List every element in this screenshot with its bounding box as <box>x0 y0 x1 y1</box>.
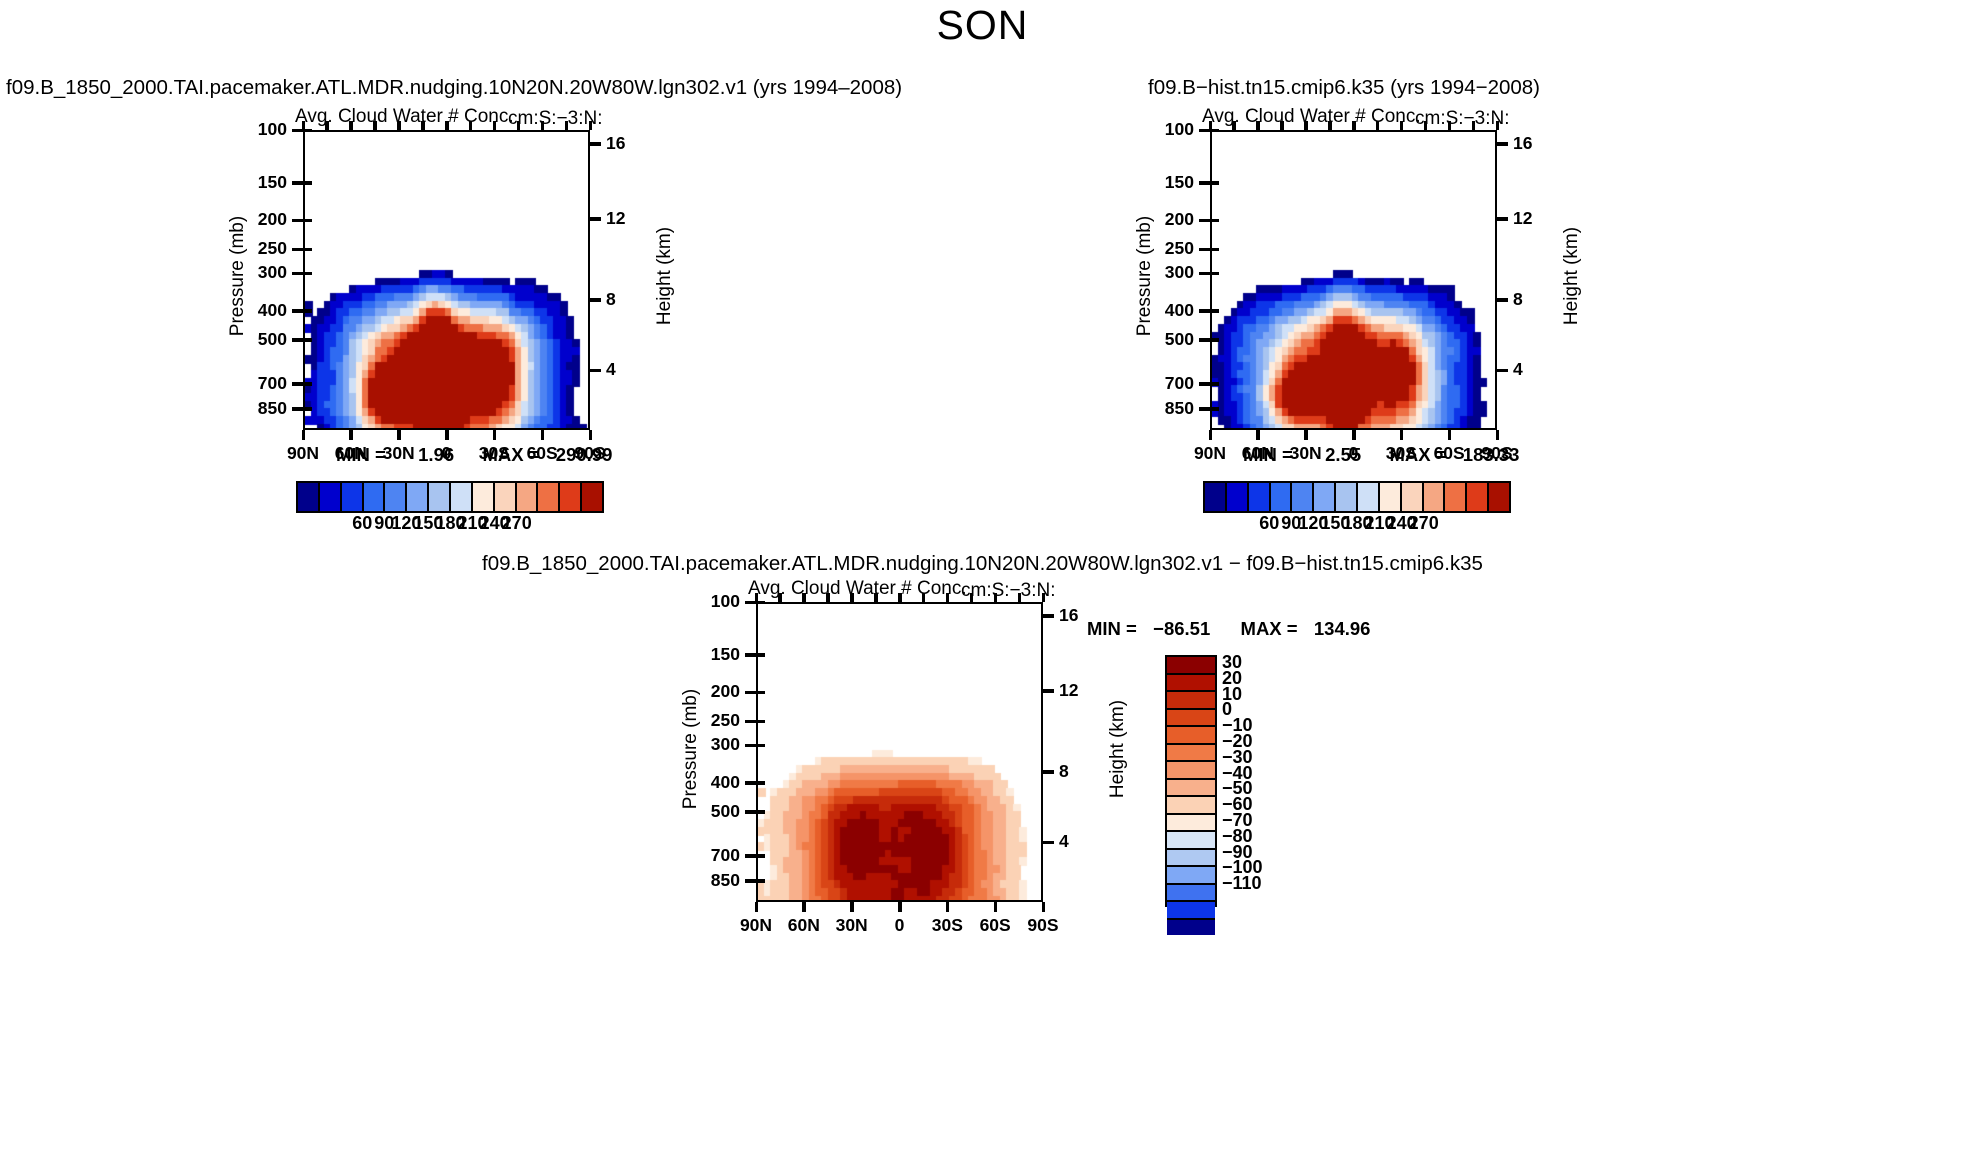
left-pressure-tick <box>292 407 303 411</box>
diff-plot-canvas <box>758 604 1043 902</box>
left-height-tick <box>590 298 601 302</box>
left-lat-tick <box>541 430 545 440</box>
colorbar-swatch <box>1445 483 1467 511</box>
left-pressure-ticklabel: 100 <box>225 119 287 140</box>
right-pressure-ticklabel: 100 <box>1132 119 1194 140</box>
left-top-tick <box>421 121 425 130</box>
colorbar-swatch <box>1467 483 1489 511</box>
left-height-ticklabel: 16 <box>606 133 646 154</box>
colorbar-swatch <box>517 483 539 511</box>
colorbar-swatch <box>1167 885 1215 903</box>
diff-height-tick <box>1043 689 1054 693</box>
left-top-tick <box>445 121 449 130</box>
diff-pressure-ticklabel: 400 <box>678 772 740 793</box>
diff-lat-tick <box>946 902 950 912</box>
diff-pressure-tick-inner <box>757 854 765 858</box>
left-top-tick <box>565 121 569 130</box>
right-pressure-tick-inner <box>1211 248 1219 252</box>
diff-height-tick <box>1043 841 1054 845</box>
colorbar-swatch <box>1292 483 1314 511</box>
colorbar-ticklabel: 270 <box>487 513 547 534</box>
right-pressure-tick <box>1199 219 1210 223</box>
left-pressure-tick <box>292 219 303 223</box>
colorbar-swatch <box>298 483 320 511</box>
diff-pressure-tick-inner <box>757 653 765 657</box>
colorbar-swatch <box>1402 483 1424 511</box>
diff-pressure-tick <box>745 781 756 785</box>
diff-height-tick <box>1043 770 1054 774</box>
left-colorbar <box>296 481 604 513</box>
colorbar-swatch <box>1424 483 1446 511</box>
right-pressure-tick <box>1199 338 1210 342</box>
diff-pressure-tick <box>745 720 756 724</box>
left-pressure-tick-inner <box>304 309 312 313</box>
right-height-tick <box>1497 217 1508 221</box>
colorbar-swatch <box>1167 710 1215 728</box>
right-top-tick <box>1328 121 1332 130</box>
diff-height-ticklabel: 12 <box>1059 680 1099 701</box>
colorbar-swatch <box>1336 483 1358 511</box>
diff-top-tick <box>970 593 974 602</box>
left-lat-tick <box>302 430 306 440</box>
left-height-tick <box>590 142 601 146</box>
colorbar-swatch <box>1380 483 1402 511</box>
colorbar-swatch <box>582 483 602 511</box>
colorbar-swatch <box>1167 762 1215 780</box>
colorbar-swatch <box>1167 920 1215 936</box>
left-lat-tick <box>493 430 497 440</box>
left-plot-canvas <box>305 132 590 430</box>
left-pressure-tick <box>292 181 303 185</box>
right-top-tick <box>1400 121 1404 130</box>
colorbar-swatch <box>1167 902 1215 920</box>
colorbar-swatch <box>1167 867 1215 885</box>
right-pressure-ticklabel: 200 <box>1132 209 1194 230</box>
diff-pressure-tick <box>745 810 756 814</box>
left-height-ticklabel: 4 <box>606 359 646 380</box>
colorbar-swatch <box>385 483 407 511</box>
diff-lat-tick <box>994 902 998 912</box>
diff-top-tick <box>778 593 782 602</box>
diff-pressure-ticklabel: 100 <box>678 591 740 612</box>
diff-pressure-tick <box>745 653 756 657</box>
right-pressure-tick <box>1199 181 1210 185</box>
diff-pressure-tick <box>745 691 756 695</box>
diff-height-ticklabel: 16 <box>1059 605 1099 626</box>
left-pressure-tick-inner <box>304 407 312 411</box>
diff-pressure-ticklabel: 850 <box>678 870 740 891</box>
diff-lat-tick <box>850 902 854 912</box>
right-top-tick <box>1496 121 1500 130</box>
right-lat-tick <box>1400 430 1404 440</box>
colorbar-swatch <box>1167 780 1215 798</box>
colorbar-swatch <box>1314 483 1336 511</box>
colorbar-ticklabel: −110 <box>1222 873 1308 894</box>
diff-pressure-tick <box>745 744 756 748</box>
diff-pressure-tick-inner <box>757 601 765 605</box>
diff-lat-tick <box>755 902 759 912</box>
right-pressure-ticklabel: 400 <box>1132 300 1194 321</box>
left-top-tick <box>493 121 497 130</box>
right-pressure-tick <box>1199 272 1210 276</box>
right-top-tick <box>1352 121 1356 130</box>
diff-ylabel-height: Height (km) <box>1107 669 1129 829</box>
right-lat-ticklabel: 90S <box>1463 443 1531 464</box>
diff-lat-ticklabel: 90S <box>1009 915 1077 936</box>
colorbar-swatch <box>1167 657 1215 675</box>
diff-colorbar <box>1165 655 1217 907</box>
diff-pressure-ticklabel: 200 <box>678 681 740 702</box>
diff-top-tick <box>946 593 950 602</box>
right-pressure-ticklabel: 250 <box>1132 238 1194 259</box>
diff-pressure-ticklabel: 700 <box>678 845 740 866</box>
right-panel-title: f09.B−hist.tn15.cmip6.k35 (yrs 1994−2008… <box>1148 76 1540 100</box>
diff-pressure-tick-inner <box>757 720 765 724</box>
left-lat-ticklabel: 90S <box>556 443 624 464</box>
colorbar-swatch <box>538 483 560 511</box>
diff-top-tick <box>826 593 830 602</box>
left-top-tick <box>541 121 545 130</box>
right-pressure-tick <box>1199 382 1210 386</box>
right-lat-tick <box>1496 430 1500 440</box>
diff-panel-title: f09.B_1850_2000.TAI.pacemaker.ATL.MDR.nu… <box>0 552 1965 576</box>
left-pressure-tick-inner <box>304 181 312 185</box>
diff-top-tick <box>994 593 998 602</box>
right-top-tick <box>1424 121 1428 130</box>
right-height-ticklabel: 16 <box>1513 133 1553 154</box>
left-top-tick <box>325 121 329 130</box>
colorbar-swatch <box>451 483 473 511</box>
left-top-tick <box>349 121 353 130</box>
diff-top-tick <box>874 593 878 602</box>
left-pressure-ticklabel: 250 <box>225 238 287 259</box>
right-height-tick <box>1497 369 1508 373</box>
left-ylabel-height: Height (km) <box>654 196 676 356</box>
diff-pressure-tick-inner <box>757 879 765 883</box>
right-top-tick <box>1304 121 1308 130</box>
diff-top-tick <box>850 593 854 602</box>
right-pressure-tick-inner <box>1211 338 1219 342</box>
right-pressure-ticklabel: 500 <box>1132 329 1194 350</box>
left-height-ticklabel: 12 <box>606 208 646 229</box>
left-lat-tick <box>589 430 593 440</box>
diff-pressure-ticklabel: 250 <box>678 710 740 731</box>
right-top-tick <box>1256 121 1260 130</box>
right-top-tick <box>1472 121 1476 130</box>
right-pressure-tick <box>1199 248 1210 252</box>
diff-top-tick <box>1042 593 1046 602</box>
right-ylabel-height: Height (km) <box>1561 196 1583 356</box>
diff-pressure-tick <box>745 854 756 858</box>
right-lat-tick <box>1448 430 1452 440</box>
right-pressure-ticklabel: 150 <box>1132 172 1194 193</box>
right-pressure-tick <box>1199 407 1210 411</box>
colorbar-swatch <box>1358 483 1380 511</box>
right-lat-tick <box>1256 430 1260 440</box>
right-pressure-ticklabel: 300 <box>1132 262 1194 283</box>
right-colorbar-labels: 6090120150180210240270 <box>1203 513 1512 537</box>
diff-height-ticklabel: 4 <box>1059 831 1099 852</box>
left-lat-tick <box>349 430 353 440</box>
colorbar-swatch <box>364 483 386 511</box>
figure-suptitle: SON <box>0 2 1965 49</box>
left-pressure-tick-inner <box>304 129 312 133</box>
left-height-tick <box>590 217 601 221</box>
colorbar-swatch <box>1167 745 1215 763</box>
diff-lat-tick <box>1042 902 1046 912</box>
colorbar-swatch <box>1227 483 1249 511</box>
diff-pressure-tick-inner <box>757 691 765 695</box>
diff-pressure-tick-inner <box>757 744 765 748</box>
right-lat-tick <box>1209 430 1213 440</box>
diff-height-ticklabel: 8 <box>1059 761 1099 782</box>
left-pressure-tick-inner <box>304 248 312 252</box>
left-pressure-tick <box>292 248 303 252</box>
left-height-ticklabel: 8 <box>606 289 646 310</box>
right-height-ticklabel: 12 <box>1513 208 1553 229</box>
left-pressure-tick <box>292 272 303 276</box>
left-pressure-ticklabel: 300 <box>225 262 287 283</box>
colorbar-swatch <box>1271 483 1293 511</box>
diff-top-tick <box>802 593 806 602</box>
diff-top-tick <box>1018 593 1022 602</box>
colorbar-swatch <box>1205 483 1227 511</box>
left-height-tick <box>590 369 601 373</box>
right-pressure-tick-inner <box>1211 129 1219 133</box>
left-top-tick <box>469 121 473 130</box>
left-pressure-ticklabel: 850 <box>225 398 287 419</box>
diff-plot-frame <box>756 602 1043 902</box>
colorbar-swatch <box>1167 797 1215 815</box>
right-pressure-ticklabel: 850 <box>1132 398 1194 419</box>
right-top-tick <box>1280 121 1284 130</box>
right-pressure-tick-inner <box>1211 272 1219 276</box>
colorbar-swatch <box>1167 675 1215 693</box>
colorbar-swatch <box>1167 692 1215 710</box>
diff-lat-tick <box>898 902 902 912</box>
left-pressure-tick <box>292 382 303 386</box>
left-pressure-tick <box>292 309 303 313</box>
left-pressure-tick <box>292 338 303 342</box>
left-top-tick <box>589 121 593 130</box>
diff-pressure-tick-inner <box>757 781 765 785</box>
left-top-tick <box>373 121 377 130</box>
right-top-tick <box>1232 121 1236 130</box>
left-pressure-tick-inner <box>304 338 312 342</box>
colorbar-swatch <box>560 483 582 511</box>
right-height-ticklabel: 4 <box>1513 359 1553 380</box>
right-plot-canvas <box>1212 132 1497 430</box>
left-pressure-tick-inner <box>304 382 312 386</box>
right-plot-frame <box>1210 130 1497 430</box>
diff-pressure-ticklabel: 300 <box>678 734 740 755</box>
right-top-tick <box>1376 121 1380 130</box>
left-lat-tick <box>397 430 401 440</box>
diff-height-tick <box>1043 614 1054 618</box>
right-pressure-tick <box>1199 309 1210 313</box>
colorbar-swatch <box>429 483 451 511</box>
colorbar-swatch <box>407 483 429 511</box>
diff-pressure-tick-inner <box>757 810 765 814</box>
left-pressure-ticklabel: 700 <box>225 373 287 394</box>
right-lat-tick <box>1352 430 1356 440</box>
colorbar-swatch <box>1167 815 1215 833</box>
left-pressure-ticklabel: 200 <box>225 209 287 230</box>
left-pressure-tick-inner <box>304 272 312 276</box>
right-pressure-tick-inner <box>1211 309 1219 313</box>
left-pressure-ticklabel: 400 <box>225 300 287 321</box>
left-top-tick <box>397 121 401 130</box>
colorbar-swatch <box>495 483 517 511</box>
right-lat-tick <box>1304 430 1308 440</box>
colorbar-swatch <box>1249 483 1271 511</box>
left-pressure-ticklabel: 150 <box>225 172 287 193</box>
diff-pressure-ticklabel: 500 <box>678 801 740 822</box>
left-top-tick <box>517 121 521 130</box>
colorbar-swatch <box>342 483 364 511</box>
right-pressure-tick-inner <box>1211 181 1219 185</box>
right-pressure-ticklabel: 700 <box>1132 373 1194 394</box>
diff-top-tick <box>898 593 902 602</box>
colorbar-swatch <box>320 483 342 511</box>
diff-pressure-tick <box>745 879 756 883</box>
right-height-tick <box>1497 142 1508 146</box>
colorbar-swatch <box>1489 483 1509 511</box>
left-plot-frame <box>303 130 590 430</box>
right-pressure-tick-inner <box>1211 382 1219 386</box>
diff-min-label: MIN = −86.51 MAX = 134.96 <box>1087 618 1370 640</box>
diff-top-tick <box>922 593 926 602</box>
left-panel-title: f09.B_1850_2000.TAI.pacemaker.ATL.MDR.nu… <box>6 76 902 100</box>
colorbar-swatch <box>473 483 495 511</box>
right-top-tick <box>1448 121 1452 130</box>
left-pressure-tick-inner <box>304 219 312 223</box>
diff-lat-tick <box>802 902 806 912</box>
left-lat-tick <box>445 430 449 440</box>
right-height-tick <box>1497 298 1508 302</box>
colorbar-ticklabel: 270 <box>1394 513 1454 534</box>
right-height-ticklabel: 8 <box>1513 289 1553 310</box>
right-pressure-tick-inner <box>1211 407 1219 411</box>
left-pressure-ticklabel: 500 <box>225 329 287 350</box>
diff-colorbar-labels: 3020100−10−20−30−40−50−60−70−80−90−100−1… <box>1222 655 1312 908</box>
right-pressure-tick-inner <box>1211 219 1219 223</box>
colorbar-swatch <box>1167 832 1215 850</box>
right-colorbar <box>1203 481 1511 513</box>
colorbar-swatch <box>1167 850 1215 868</box>
diff-pressure-ticklabel: 150 <box>678 644 740 665</box>
colorbar-swatch <box>1167 727 1215 745</box>
left-colorbar-labels: 6090120150180210240270 <box>296 513 605 537</box>
